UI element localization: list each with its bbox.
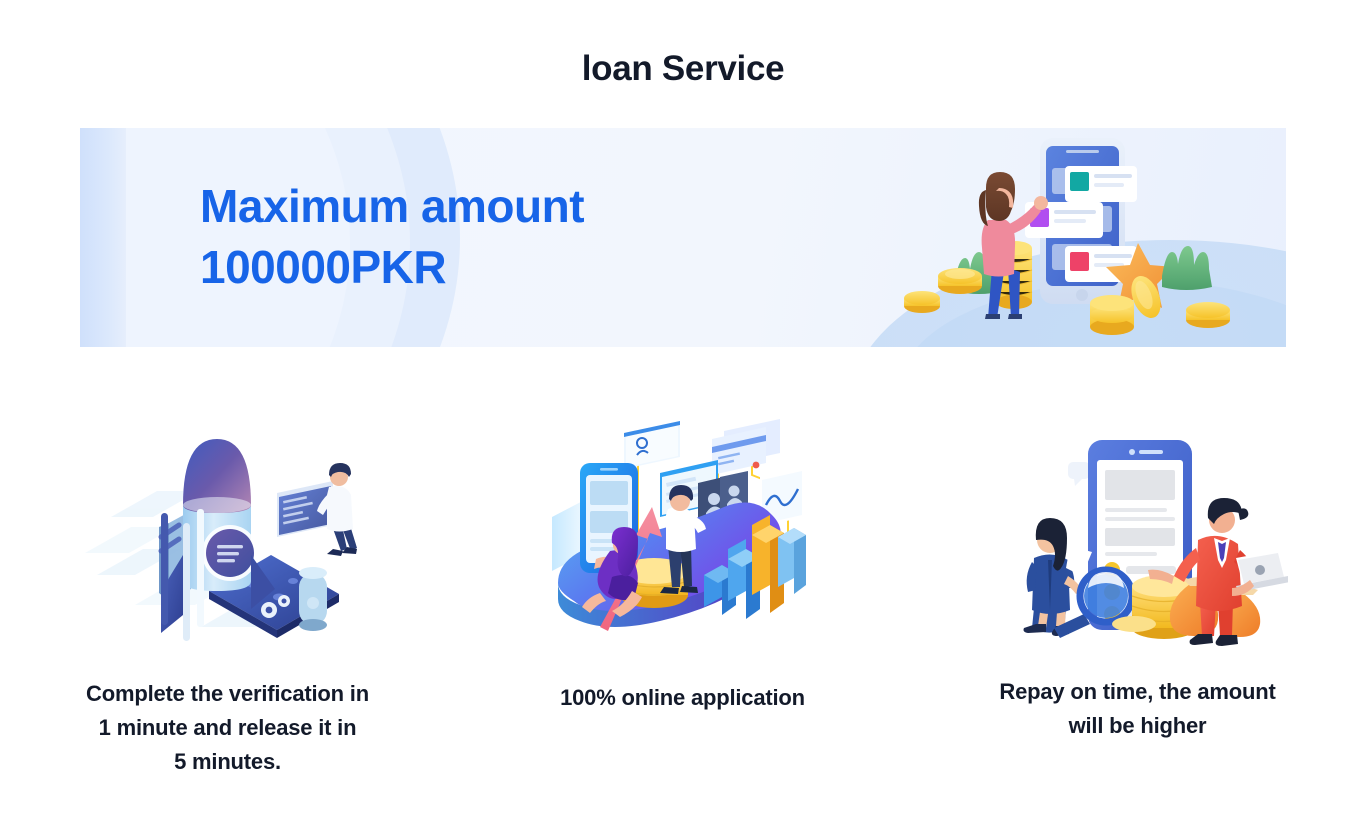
online-application-icon <box>533 405 833 655</box>
rocket-badge <box>202 525 258 581</box>
rocket-stripe <box>197 509 204 627</box>
coin-stack-right <box>1186 302 1230 328</box>
loan-service-page: loan Service Maximum amount 100000PKR <box>0 0 1366 830</box>
feature-list: Complete the verification in 1 minute an… <box>0 405 1366 779</box>
banner-illustration <box>900 128 1286 347</box>
bush-right <box>1162 246 1212 290</box>
fuel-tank <box>299 567 327 631</box>
feature-caption: Complete the verification in 1 minute an… <box>43 677 413 779</box>
feature-caption: 100% online application <box>498 681 868 715</box>
hero-banner[interactable]: Maximum amount 100000PKR <box>80 128 1286 347</box>
banner-left-accent-band <box>80 128 126 347</box>
tower-pole-front <box>183 523 190 641</box>
content-block <box>1105 470 1175 500</box>
banner-headline: Maximum amount 100000PKR <box>200 176 584 297</box>
feature-card-repay-on-time[interactable]: Repay on time, the amount will be higher <box>910 405 1365 779</box>
speech-bubble <box>1068 462 1090 486</box>
rocket-launch-icon <box>78 405 378 655</box>
feature-card-verification-speed[interactable]: Complete the verification in 1 minute an… <box>0 405 455 779</box>
person-with-dashboard <box>277 463 357 556</box>
page-title: loan Service <box>0 50 1366 89</box>
repayment-checklist-icon <box>988 405 1288 655</box>
tower-pole-back <box>161 513 168 625</box>
floating-credit-card <box>712 419 780 475</box>
floating-id-card <box>624 421 680 469</box>
feature-card-online-application[interactable]: 100% online application <box>455 405 910 779</box>
coin-stack-center <box>1090 295 1134 335</box>
coin-stack-small-left <box>904 291 940 313</box>
coin-stack-left <box>938 268 982 294</box>
feature-caption: Repay on time, the amount will be higher <box>953 675 1323 743</box>
woman-figure <box>979 172 1048 319</box>
